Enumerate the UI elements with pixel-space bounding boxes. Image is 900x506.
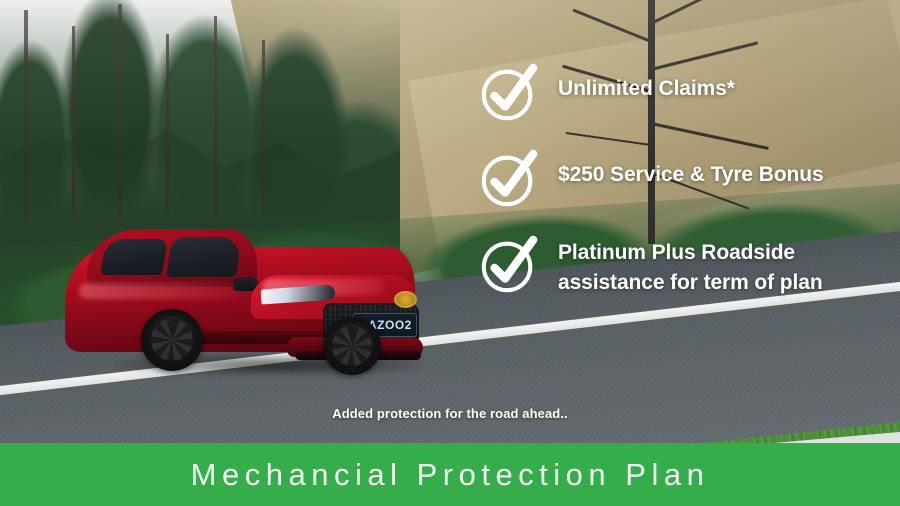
checkmark-circle-icon bbox=[478, 234, 540, 296]
feature-label: Unlimited Claims* bbox=[558, 62, 735, 104]
tree-trunk bbox=[166, 34, 169, 214]
vehicle-rear-rim bbox=[332, 326, 372, 366]
vehicle-gr-corolla: GAZOO2 bbox=[55, 225, 430, 380]
vehicle-front-window bbox=[166, 237, 242, 277]
checkmark-circle-icon bbox=[478, 148, 540, 210]
footer-banner: Mechancial Protection Plan bbox=[0, 443, 900, 506]
tagline-caption: Added protection for the road ahead.. bbox=[0, 406, 900, 421]
vehicle-side-highlight bbox=[79, 283, 239, 299]
vehicle-front-rim bbox=[151, 319, 193, 361]
tree-trunk bbox=[118, 4, 122, 219]
footer-title: Mechancial Protection Plan bbox=[191, 457, 710, 493]
feature-item: $250 Service & Tyre Bonus bbox=[478, 148, 890, 210]
feature-item: Unlimited Claims* bbox=[478, 62, 890, 124]
feature-label: $250 Service & Tyre Bonus bbox=[558, 148, 824, 190]
tree-trunk bbox=[24, 10, 28, 220]
feature-list: Unlimited Claims* $250 Service & Tyre Bo… bbox=[478, 62, 890, 298]
toyota-badge-icon bbox=[394, 291, 417, 308]
tree-trunk bbox=[214, 16, 217, 216]
feature-label: Platinum Plus Roadside assistance for te… bbox=[558, 234, 876, 298]
feature-item: Platinum Plus Roadside assistance for te… bbox=[478, 234, 890, 298]
tree-trunk bbox=[72, 26, 75, 216]
tree-trunk bbox=[262, 40, 265, 215]
vehicle-rear-window bbox=[100, 239, 168, 275]
mechanical-protection-plan-banner: GAZOO2 Unlimited Claims* $250 Service & … bbox=[0, 0, 900, 506]
checkmark-circle-icon bbox=[478, 62, 540, 124]
